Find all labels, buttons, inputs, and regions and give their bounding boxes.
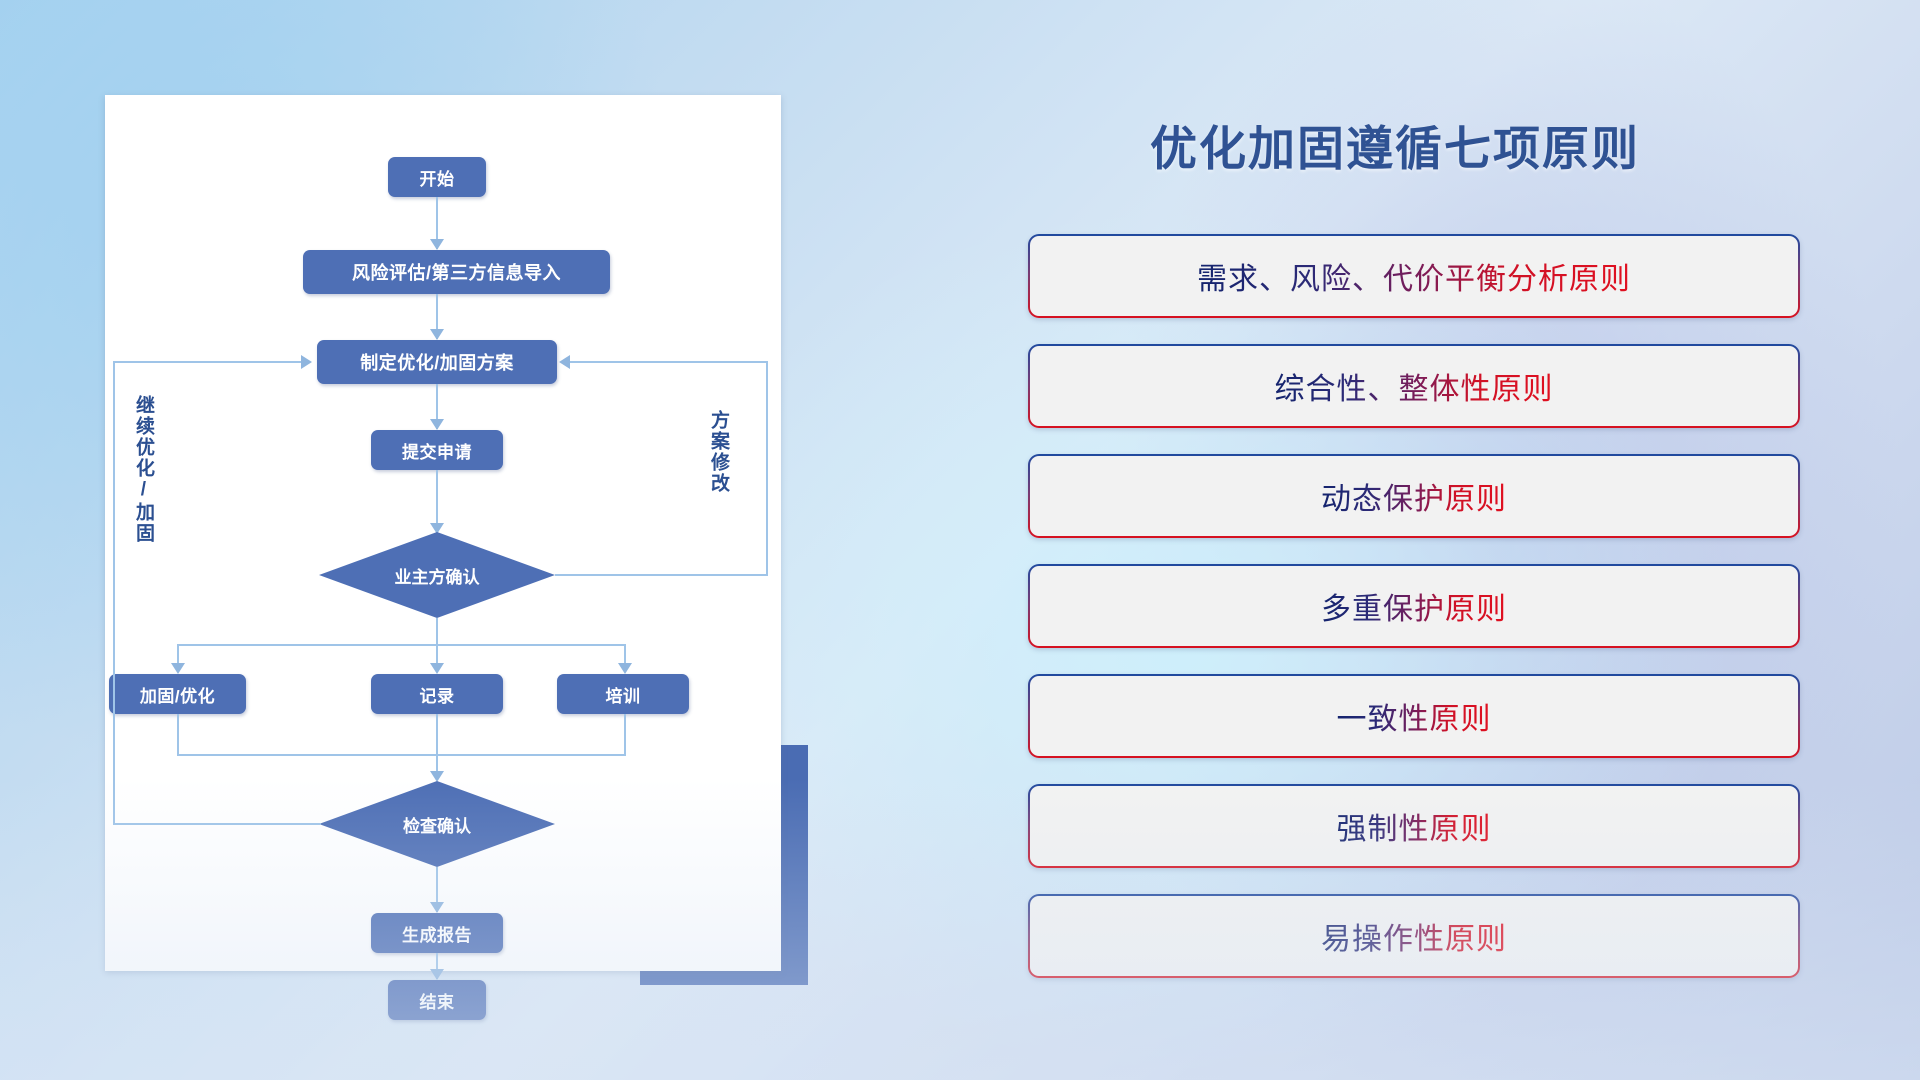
arrowhead-loop-left-to-plan (301, 355, 312, 369)
flow-node-record-label: 记录 (420, 682, 455, 707)
flow-decision-owner-confirm-label: 业主方确认 (395, 563, 480, 588)
principle-card-inner: 动态保护原则 (1030, 456, 1798, 536)
flow-decision-check-confirm[interactable]: 检查确认 (319, 781, 555, 867)
flow-node-reinforce[interactable]: 加固/优化 (109, 674, 246, 714)
connector-fanin-stem (436, 714, 438, 778)
principle-card-label: 综合性、整体性原则 (1275, 364, 1554, 408)
arrowhead-check-to-report (430, 902, 444, 913)
principle-card[interactable]: 需求、风险、代价平衡分析原则 (1028, 234, 1800, 318)
flow-node-training-label: 培训 (606, 682, 641, 707)
arrowhead-report-to-end (430, 969, 444, 980)
flow-node-report[interactable]: 生成报告 (371, 913, 503, 953)
principle-card[interactable]: 易操作性原则 (1028, 894, 1800, 978)
flow-node-plan[interactable]: 制定优化/加固方案 (317, 340, 557, 384)
principle-card[interactable]: 动态保护原则 (1028, 454, 1800, 538)
principle-card-label: 需求、风险、代价平衡分析原则 (1197, 254, 1631, 298)
principle-card-label: 易操作性原则 (1321, 914, 1507, 958)
principle-card[interactable]: 一致性原则 (1028, 674, 1800, 758)
principle-card-inner: 需求、风险、代价平衡分析原则 (1030, 236, 1798, 316)
flow-node-end-label: 结束 (420, 988, 455, 1013)
connector-owner-fanout-bar (177, 644, 625, 646)
flow-node-risk-assessment-label: 风险评估/第三方信息导入 (352, 259, 561, 285)
principle-card-inner: 易操作性原则 (1030, 896, 1798, 976)
loop-left-bottom-segment (113, 823, 321, 825)
principles-card-list: 需求、风险、代价平衡分析原则 综合性、整体性原则 动态保护原则 多重保护原则 一… (1028, 234, 1800, 1004)
flow-node-plan-label: 制定优化/加固方案 (360, 349, 514, 375)
principle-card-inner: 多重保护原则 (1030, 566, 1798, 646)
connector-owner-fanout-stem (436, 618, 438, 645)
arrowhead-fanout-left (171, 663, 185, 674)
connector-fanin-left (177, 714, 179, 755)
principle-card[interactable]: 多重保护原则 (1028, 564, 1800, 648)
flow-node-start[interactable]: 开始 (388, 157, 486, 197)
flow-node-submit[interactable]: 提交申请 (371, 430, 503, 470)
arrowhead-fanout-center (430, 663, 444, 674)
principle-card-inner: 一致性原则 (1030, 676, 1798, 756)
loop-label-continue-optimize: 继续优化/加固 (133, 395, 153, 544)
loop-left-vertical-segment (113, 362, 115, 640)
flow-decision-owner-confirm[interactable]: 业主方确认 (319, 532, 555, 618)
arrowhead-plan-to-submit (430, 419, 444, 430)
page-title: 优化加固遵循七项原则 (1150, 110, 1640, 179)
flow-node-report-label: 生成报告 (402, 921, 472, 946)
loop-right-top-segment (570, 361, 768, 363)
arrowhead-loop-right-to-plan (559, 355, 570, 369)
principle-card[interactable]: 综合性、整体性原则 (1028, 344, 1800, 428)
arrowhead-risk-to-plan (430, 329, 444, 340)
flow-node-submit-label: 提交申请 (402, 438, 472, 463)
principle-card-inner: 综合性、整体性原则 (1030, 346, 1798, 426)
principle-card-label: 强制性原则 (1337, 804, 1492, 848)
flow-node-record[interactable]: 记录 (371, 674, 503, 714)
connector-fanin-bar (177, 754, 626, 756)
loop-left-riser (113, 640, 115, 825)
principle-card-inner: 强制性原则 (1030, 786, 1798, 866)
flow-decision-check-confirm-label: 检查确认 (403, 812, 471, 837)
principle-card-label: 动态保护原则 (1321, 474, 1507, 518)
flowchart-panel: 开始 风险评估/第三方信息导入 制定优化/加固方案 提交申请 业主方确认 (105, 95, 781, 971)
connector-fanin-right (624, 714, 626, 755)
flow-node-risk-assessment[interactable]: 风险评估/第三方信息导入 (303, 250, 610, 294)
principle-card-label: 一致性原则 (1337, 694, 1492, 738)
flow-node-reinforce-label: 加固/优化 (140, 682, 215, 707)
loop-right-bottom-segment (555, 574, 768, 576)
flow-node-training[interactable]: 培训 (557, 674, 689, 714)
loop-label-plan-revision: 方案修改 (708, 410, 728, 494)
arrowhead-start-to-risk (430, 239, 444, 250)
principle-card-label: 多重保护原则 (1321, 584, 1507, 628)
slide-canvas: 开始 风险评估/第三方信息导入 制定优化/加固方案 提交申请 业主方确认 (0, 0, 1920, 1080)
principle-card[interactable]: 强制性原则 (1028, 784, 1800, 868)
loop-left-top-segment (113, 361, 301, 363)
arrowhead-fanout-right (618, 663, 632, 674)
flow-node-start-label: 开始 (420, 165, 455, 190)
flow-node-end[interactable]: 结束 (388, 980, 486, 1020)
loop-right-vertical-segment (766, 362, 768, 576)
